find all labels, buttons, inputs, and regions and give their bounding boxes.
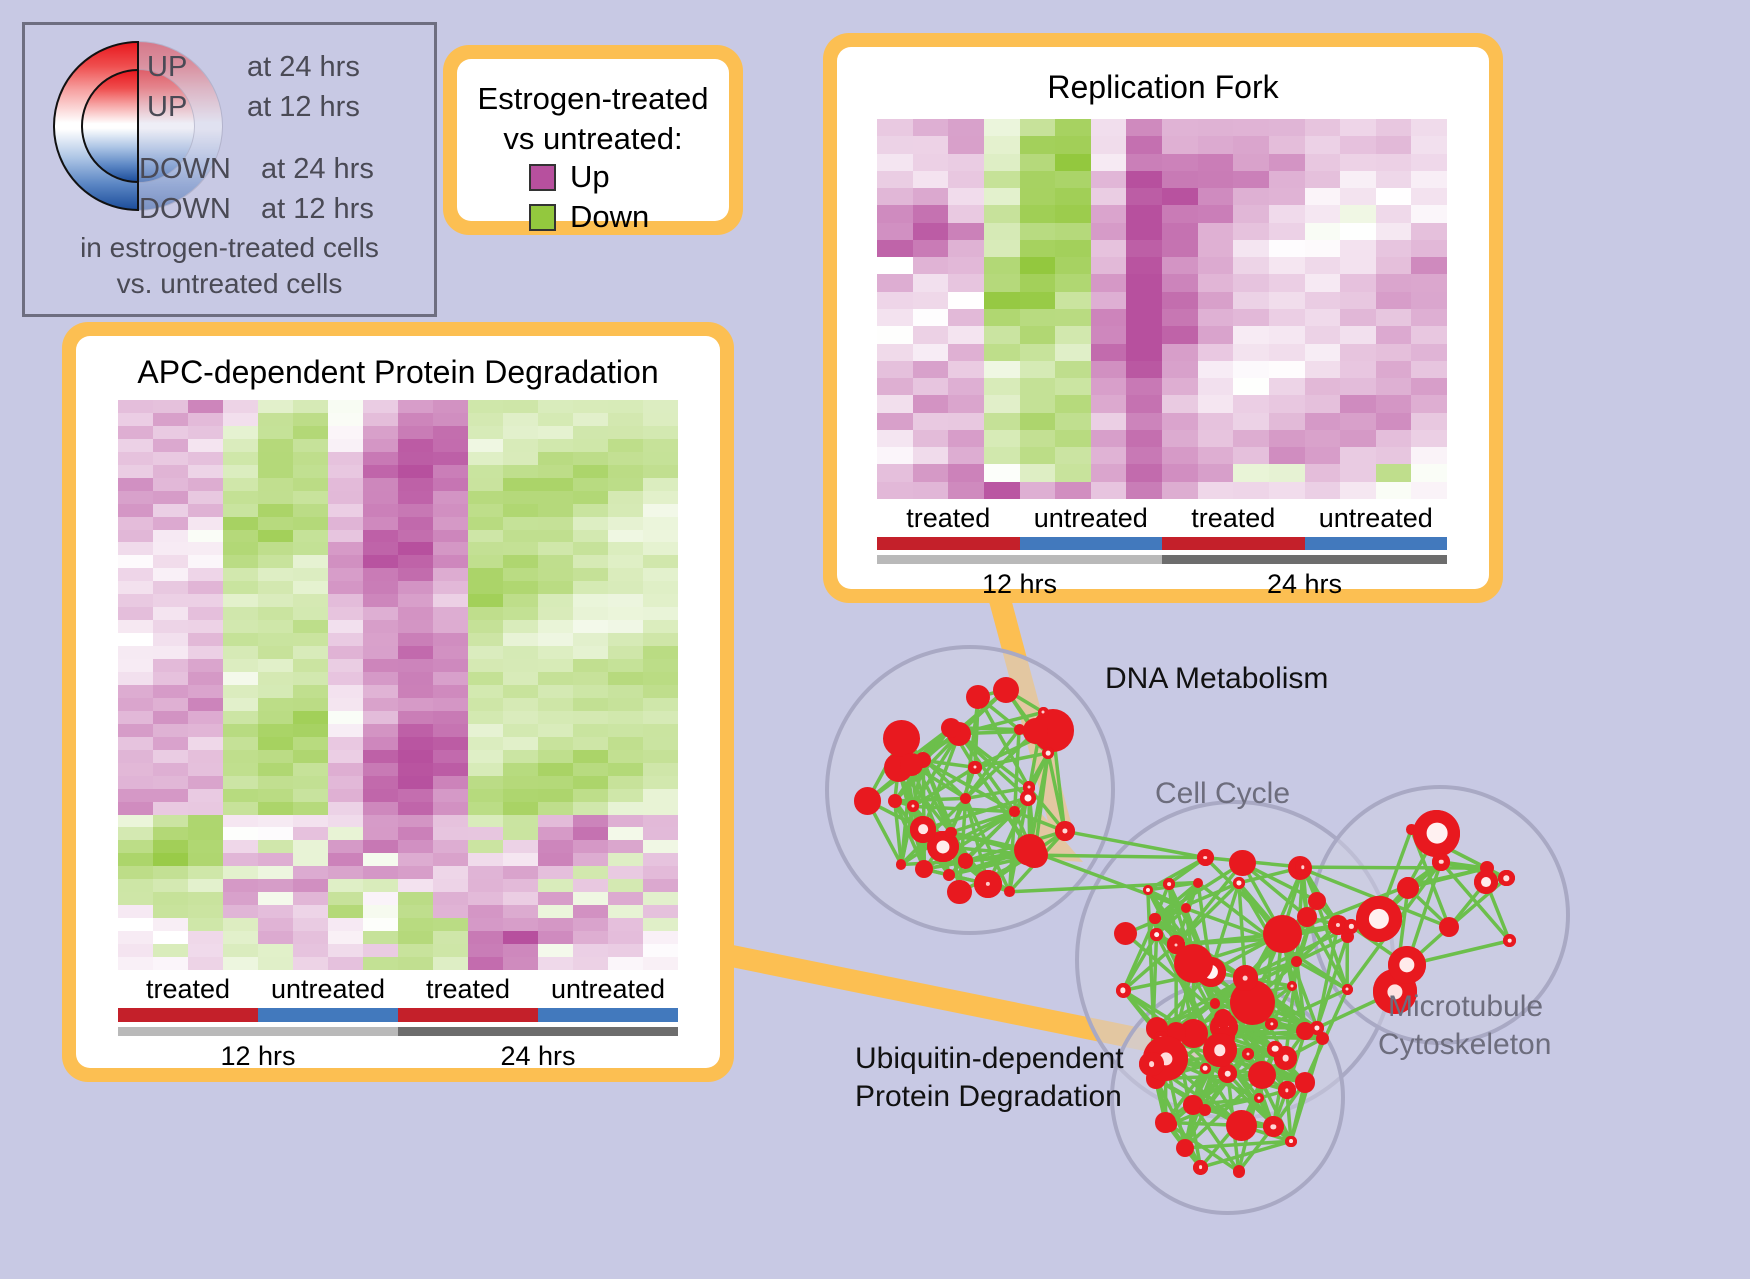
- heatmap-cell: [1305, 240, 1341, 257]
- heatmap-cell: [223, 581, 258, 594]
- heatmap-cell: [1162, 188, 1198, 205]
- heatmap-cell: [293, 517, 328, 530]
- heatmap-cell: [1233, 292, 1269, 309]
- heatmap-cell: [643, 905, 678, 918]
- network-node[interactable]: [1214, 1009, 1232, 1027]
- heatmap-cell: [398, 827, 433, 840]
- network-node[interactable]: [1143, 885, 1153, 895]
- network-node[interactable]: [968, 761, 981, 774]
- network-node[interactable]: [1397, 877, 1419, 899]
- network-node[interactable]: [1197, 849, 1215, 867]
- heatmap-cell: [223, 568, 258, 581]
- heatmap-cell: [398, 711, 433, 724]
- heatmap-cell: [293, 840, 328, 853]
- network-node[interactable]: [960, 793, 971, 804]
- heatmap-cell: [608, 685, 643, 698]
- network-node[interactable]: [1023, 718, 1048, 743]
- heatmap-cell: [1411, 430, 1447, 447]
- heatmap-cell: [1376, 154, 1412, 171]
- node-core: [986, 882, 990, 886]
- network-node[interactable]: [1498, 870, 1515, 887]
- heatmap-cell: [1269, 464, 1305, 481]
- heatmap-cell: [433, 400, 468, 413]
- heatmap-cell: [363, 840, 398, 853]
- network-node[interactable]: [1233, 877, 1245, 889]
- network-node[interactable]: [1055, 821, 1075, 841]
- heatmap-cell: [188, 413, 223, 426]
- heatmap-cell: [433, 827, 468, 840]
- heatmap-cell: [153, 530, 188, 543]
- network-node[interactable]: [1356, 896, 1402, 942]
- heatmap-cell: [363, 646, 398, 659]
- network-node[interactable]: [1291, 956, 1302, 967]
- heatmap-cell: [608, 853, 643, 866]
- heatmap-cell: [223, 827, 258, 840]
- heatmap-cell: [1233, 464, 1269, 481]
- heatmap-cell: [258, 827, 293, 840]
- heatmap-cell: [363, 685, 398, 698]
- heatmap-cell: [573, 737, 608, 750]
- heatmap-cell: [293, 879, 328, 892]
- heatmap-cell: [328, 581, 363, 594]
- heatmap-cell: [1233, 395, 1269, 412]
- network-node[interactable]: [1278, 1081, 1296, 1099]
- heatmap-cell: [538, 439, 573, 452]
- heatmap-cell: [573, 646, 608, 659]
- heatmap-cell: [328, 478, 363, 491]
- network-node[interactable]: [947, 880, 972, 905]
- heatmap-cell: [1376, 188, 1412, 205]
- heatmap-cell: [468, 542, 503, 555]
- heatmap-cell: [398, 491, 433, 504]
- network-node[interactable]: [888, 794, 902, 808]
- heatmap-cell: [877, 154, 913, 171]
- heatmap-cell: [328, 750, 363, 763]
- heatmap-cell: [643, 594, 678, 607]
- heatmap-cell: [1055, 205, 1091, 222]
- network-node[interactable]: [1139, 1052, 1164, 1077]
- heatmap-cell: [573, 452, 608, 465]
- heatmap-cell: [258, 646, 293, 659]
- heatmap-cell: [118, 944, 153, 957]
- heatmap-cell: [984, 447, 1020, 464]
- network-node[interactable]: [1229, 850, 1256, 877]
- node-core: [1214, 1045, 1225, 1056]
- network-node[interactable]: [1285, 1136, 1296, 1147]
- network-node[interactable]: [1150, 928, 1162, 940]
- heatmap-cell: [643, 931, 678, 944]
- node-core: [1369, 909, 1389, 929]
- scale-direction-down-12: DOWN: [139, 153, 231, 186]
- heatmap-cell: [538, 789, 573, 802]
- network-node[interactable]: [1042, 747, 1054, 759]
- network-node[interactable]: [910, 816, 936, 842]
- network-node[interactable]: [945, 827, 957, 839]
- heatmap-cell: [293, 620, 328, 633]
- heatmap-cell: [363, 542, 398, 555]
- heatmap-cell: [643, 866, 678, 879]
- heatmap-cell: [1055, 257, 1091, 274]
- heatmap-cell: [153, 815, 188, 828]
- heatmap-cell: [538, 620, 573, 633]
- heatmap-cell: [1269, 205, 1305, 222]
- heatmap-cell: [877, 447, 913, 464]
- network-node[interactable]: [1210, 998, 1221, 1009]
- heatmap-cell: [1020, 326, 1056, 343]
- network-node[interactable]: [1014, 834, 1046, 866]
- heatmap-cell: [1091, 223, 1127, 240]
- color-scale-legend: UP at 24 hrs UP at 12 hrs DOWN at 24 hrs…: [22, 22, 437, 317]
- heatmap-cell: [468, 439, 503, 452]
- replication-fork-group-labels: treated untreated treated untreated: [877, 503, 1447, 534]
- heatmap-cell: [258, 452, 293, 465]
- heatmap-cell: [258, 633, 293, 646]
- heatmap-cell: [398, 672, 433, 685]
- heatmap-cell: [503, 892, 538, 905]
- network-node[interactable]: [1316, 1032, 1329, 1045]
- heatmap-cell: [1055, 361, 1091, 378]
- heatmap-cell: [118, 465, 153, 478]
- heatmap-cell: [1162, 240, 1198, 257]
- heatmap-cell: [913, 464, 949, 481]
- network-node[interactable]: [1267, 1041, 1283, 1057]
- network-node[interactable]: [1004, 886, 1015, 897]
- network-node[interactable]: [1248, 1061, 1276, 1089]
- heatmap-cell: [1055, 344, 1091, 361]
- heatmap-cell: [363, 426, 398, 439]
- network-node[interactable]: [958, 853, 973, 868]
- heatmap-cell: [503, 517, 538, 530]
- network-node[interactable]: [1287, 981, 1297, 991]
- network-node[interactable]: [1308, 892, 1326, 910]
- network-node[interactable]: [1503, 934, 1516, 947]
- heatmap-cell: [913, 274, 949, 291]
- network-node[interactable]: [1263, 915, 1302, 954]
- heatmap-cell: [1233, 205, 1269, 222]
- heatmap-cell: [223, 802, 258, 815]
- network-node[interactable]: [1388, 946, 1426, 984]
- time-label-12hrs: 12 hrs: [877, 569, 1162, 600]
- heatmap-cell: [984, 361, 1020, 378]
- heatmap-cell: [1091, 154, 1127, 171]
- network-node[interactable]: [1114, 922, 1137, 945]
- network-node[interactable]: [1163, 878, 1175, 890]
- heatmap-cell: [223, 957, 258, 970]
- heatmap-cell: [538, 763, 573, 776]
- network-node[interactable]: [1233, 965, 1258, 990]
- heatmap-cell: [503, 426, 538, 439]
- heatmap-cell: [538, 478, 573, 491]
- heatmap-cell: [398, 918, 433, 931]
- heatmap-cell: [188, 789, 223, 802]
- heatmap-cell: [1305, 309, 1341, 326]
- heatmap-cell: [1020, 292, 1056, 309]
- network-node[interactable]: [915, 860, 933, 878]
- network-node[interactable]: [1203, 1033, 1237, 1067]
- heatmap-cell: [433, 426, 468, 439]
- heatmap-cell: [643, 517, 678, 530]
- heatmap-cell: [398, 879, 433, 892]
- heatmap-cell: [363, 568, 398, 581]
- heatmap-cell: [573, 724, 608, 737]
- heatmap-cell: [1091, 119, 1127, 136]
- heatmap-cell: [1055, 274, 1091, 291]
- network-node[interactable]: [1009, 806, 1019, 816]
- node-core: [912, 805, 915, 808]
- heatmap-cell: [1340, 119, 1376, 136]
- heatmap-cell: [223, 724, 258, 737]
- heatmap-cell: [258, 620, 293, 633]
- heatmap-cell: [468, 568, 503, 581]
- heatmap-cell: [1055, 240, 1091, 257]
- heatmap-cell: [153, 555, 188, 568]
- heatmap-cell: [1411, 378, 1447, 395]
- heatmap-cell: [293, 607, 328, 620]
- heatmap-cell: [573, 517, 608, 530]
- node-core: [1399, 957, 1414, 972]
- heatmap-cell: [503, 957, 538, 970]
- network-label-ubiquitin-line1: Ubiquitin-dependent: [855, 1040, 1124, 1078]
- heatmap-cell: [984, 326, 1020, 343]
- network-node[interactable]: [1296, 1022, 1314, 1040]
- heatmap-cell: [984, 309, 1020, 326]
- heatmap-cell: [153, 568, 188, 581]
- heatmap-cell: [503, 478, 538, 491]
- network-node[interactable]: [1263, 1116, 1284, 1137]
- network-node[interactable]: [1218, 1064, 1237, 1083]
- heatmap-cell: [503, 763, 538, 776]
- heatmap-cell: [1305, 136, 1341, 153]
- heatmap-cell: [913, 430, 949, 447]
- bar-untreated-12: [1020, 537, 1163, 550]
- node-core: [1270, 1022, 1273, 1025]
- heatmap-cell: [608, 776, 643, 789]
- network-node[interactable]: [974, 870, 1002, 898]
- heatmap-cell: [153, 439, 188, 452]
- heatmap-cell: [1233, 171, 1269, 188]
- heatmap-cell: [188, 802, 223, 815]
- heatmap-cell: [118, 957, 153, 970]
- heatmap-cell: [328, 465, 363, 478]
- network-node[interactable]: [1116, 983, 1131, 998]
- legend-label-down: Down: [570, 199, 649, 235]
- network-node[interactable]: [1155, 1112, 1175, 1132]
- heatmap-cell: [363, 866, 398, 879]
- heatmap-cell: [398, 620, 433, 633]
- heatmap-cell: [913, 205, 949, 222]
- network-node[interactable]: [1254, 1093, 1264, 1103]
- heatmap-cell: [293, 530, 328, 543]
- heatmap-cell: [1055, 309, 1091, 326]
- network-node[interactable]: [1432, 853, 1449, 870]
- heatmap-cell: [948, 171, 984, 188]
- heatmap-cell: [1198, 292, 1234, 309]
- heatmap-cell: [153, 724, 188, 737]
- heatmap-cell: [223, 711, 258, 724]
- heatmap-cell: [573, 802, 608, 815]
- apc-group-label-treated-12: treated: [118, 974, 258, 1005]
- heatmap-cell: [468, 698, 503, 711]
- heatmap-cell: [643, 465, 678, 478]
- heatmap-cell: [433, 957, 468, 970]
- network-node[interactable]: [1344, 919, 1358, 933]
- network-node[interactable]: [1023, 781, 1035, 793]
- heatmap-cell: [118, 568, 153, 581]
- network-node[interactable]: [1413, 810, 1460, 857]
- network-node[interactable]: [1342, 984, 1353, 995]
- heatmap-cell: [398, 905, 433, 918]
- heatmap-cell: [948, 119, 984, 136]
- heatmap-cell: [573, 789, 608, 802]
- heatmap-cell: [503, 504, 538, 517]
- network-node[interactable]: [1265, 1018, 1278, 1031]
- heatmap-cell: [223, 542, 258, 555]
- heatmap-cell: [468, 892, 503, 905]
- heatmap-cell: [1126, 223, 1162, 240]
- heatmap-cell: [153, 607, 188, 620]
- network-node[interactable]: [1149, 913, 1160, 924]
- bar-untreated-12: [258, 1008, 398, 1022]
- network-node[interactable]: [1176, 1139, 1195, 1158]
- heatmap-cell: [468, 478, 503, 491]
- heatmap-cell: [948, 378, 984, 395]
- network-node[interactable]: [1038, 707, 1049, 718]
- heatmap-cell: [468, 918, 503, 931]
- network-node[interactable]: [896, 859, 906, 869]
- heatmap-cell: [293, 452, 328, 465]
- network-node[interactable]: [1200, 1063, 1211, 1074]
- heatmap-cell: [1411, 205, 1447, 222]
- network-node[interactable]: [966, 685, 990, 709]
- node-core: [1439, 860, 1444, 865]
- heatmap-cell: [363, 789, 398, 802]
- heatmap-cell: [913, 482, 949, 499]
- heatmap-cell: [258, 879, 293, 892]
- network-node[interactable]: [1193, 878, 1203, 888]
- heatmap-cell: [538, 866, 573, 879]
- heatmap-cell: [223, 594, 258, 607]
- heatmap-cell: [1411, 240, 1447, 257]
- heatmap-cell: [503, 815, 538, 828]
- heatmap-cell: [188, 659, 223, 672]
- heatmap-cell: [223, 439, 258, 452]
- heatmap-cell: [538, 905, 573, 918]
- heatmap-cell: [118, 853, 153, 866]
- heatmap-cell: [1126, 413, 1162, 430]
- heatmap-cell: [948, 223, 984, 240]
- heatmap-cell: [913, 119, 949, 136]
- network-node[interactable]: [1474, 870, 1498, 894]
- heatmap-cell: [1411, 119, 1447, 136]
- heatmap-cell: [1233, 119, 1269, 136]
- heatmap-cell: [468, 853, 503, 866]
- heatmap-cell: [258, 465, 293, 478]
- heatmap-cell: [1340, 205, 1376, 222]
- heatmap-cell: [538, 542, 573, 555]
- network-node[interactable]: [1295, 1072, 1315, 1092]
- heatmap-cell: [1376, 240, 1412, 257]
- heatmap-cell: [258, 581, 293, 594]
- heatmap-cell: [1376, 361, 1412, 378]
- heatmap-cell: [258, 802, 293, 815]
- heatmap-cell: [1198, 430, 1234, 447]
- network-node[interactable]: [900, 753, 923, 776]
- heatmap-cell: [153, 750, 188, 763]
- heatmap-cell: [1020, 171, 1056, 188]
- heatmap-cell: [643, 607, 678, 620]
- heatmap-cell: [433, 931, 468, 944]
- heatmap-cell: [153, 905, 188, 918]
- heatmap-cell: [398, 698, 433, 711]
- bar-untreated-24: [1305, 537, 1448, 550]
- heatmap-cell: [643, 944, 678, 957]
- heatmap-cell: [984, 378, 1020, 395]
- network-node[interactable]: [993, 677, 1019, 703]
- network-node[interactable]: [1174, 944, 1213, 983]
- heatmap-cell: [573, 594, 608, 607]
- heatmap-cell: [188, 737, 223, 750]
- network-label-cytoskeleton: Cytoskeleton: [1378, 1026, 1551, 1064]
- heatmap-cell: [398, 439, 433, 452]
- heatmap-cell: [1376, 257, 1412, 274]
- heatmap-cell: [1126, 361, 1162, 378]
- heatmap-cell: [188, 439, 223, 452]
- heatmap-cell: [984, 482, 1020, 499]
- heatmap-cell: [643, 711, 678, 724]
- heatmap-cell: [608, 555, 643, 568]
- heatmap-cell: [877, 119, 913, 136]
- heatmap-cell: [1340, 154, 1376, 171]
- heatmap-cell: [503, 400, 538, 413]
- heatmap-cell: [258, 866, 293, 879]
- heatmap-cell: [433, 413, 468, 426]
- heatmap-cell: [468, 931, 503, 944]
- heatmap-cell: [913, 361, 949, 378]
- network-node[interactable]: [1226, 1110, 1257, 1141]
- network-node[interactable]: [1233, 1165, 1245, 1177]
- network-node[interactable]: [907, 800, 919, 812]
- heatmap-cell: [608, 737, 643, 750]
- network-node[interactable]: [1439, 917, 1459, 937]
- network-node[interactable]: [943, 869, 955, 881]
- network-node[interactable]: [1242, 1048, 1254, 1060]
- network-node[interactable]: [1199, 1104, 1211, 1116]
- heatmap-cell: [118, 763, 153, 776]
- network-node[interactable]: [941, 718, 961, 738]
- heatmap-cell: [188, 711, 223, 724]
- heatmap-cell: [1091, 413, 1127, 430]
- heatmap-cell: [468, 530, 503, 543]
- heatmap-cell: [328, 789, 363, 802]
- heatmap-cell: [293, 866, 328, 879]
- heatmap-cell: [1091, 326, 1127, 343]
- heatmap-cell: [293, 892, 328, 905]
- heatmap-cell: [1020, 309, 1056, 326]
- heatmap-cell: [188, 853, 223, 866]
- heatmap-cell: [328, 568, 363, 581]
- heatmap-cell: [258, 853, 293, 866]
- heatmap-cell: [293, 789, 328, 802]
- network-node[interactable]: [1193, 1160, 1209, 1176]
- network-node[interactable]: [854, 787, 882, 815]
- heatmap-cell: [948, 464, 984, 481]
- heatmap-cell: [293, 776, 328, 789]
- heatmap-cell: [877, 361, 913, 378]
- heatmap-cell: [1198, 464, 1234, 481]
- replication-fork-title: Replication Fork: [837, 69, 1489, 106]
- network-node[interactable]: [1181, 903, 1191, 913]
- network-node[interactable]: [883, 720, 920, 757]
